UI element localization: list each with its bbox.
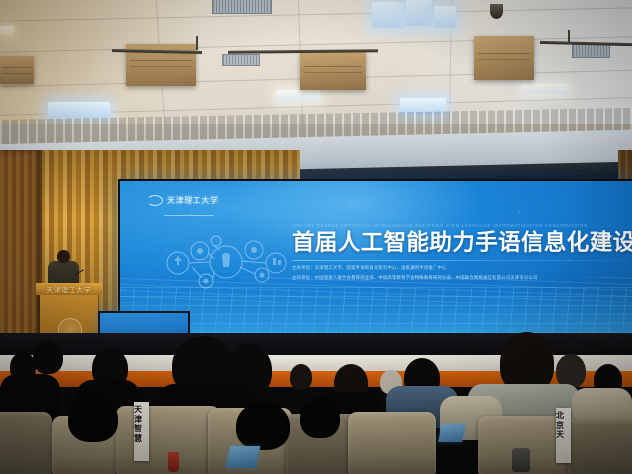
organizer-line-1: 主办单位：天津理工大学、国家手语和盲文研究中心、国家通用手语推广中心: [292, 264, 632, 271]
tablet-screen: [438, 424, 466, 442]
ceiling-speaker: [474, 36, 534, 80]
ceiling-light: [48, 102, 110, 118]
water-bottle: [168, 452, 179, 472]
seat-name-card: 天津智慧: [134, 402, 149, 461]
audience-head: [290, 364, 312, 390]
audience-head: [556, 354, 586, 388]
screen-title-block: THE 1ST DEGREE ARTIFICIAL INTELLIGENCE A…: [292, 223, 632, 281]
ceiling-light: [434, 6, 456, 28]
ceiling-light: [276, 90, 320, 102]
seat-card-text: 北京天: [556, 411, 571, 440]
logo-mark-icon: [147, 195, 163, 206]
auditorium-photo: 天津理工大学: [0, 0, 632, 474]
ceiling-hanger: [568, 30, 570, 44]
ai-network-nodes-icon: [156, 233, 296, 295]
ceiling-speaker: [0, 56, 34, 84]
organizer-line-2: 主持单位：中国残疾人联合会教育就业部、中国高等教育学会特殊教育研究分会、中国联合…: [292, 274, 632, 281]
seat: [348, 412, 436, 474]
presenter-head: [57, 250, 70, 263]
audience-head: [236, 402, 290, 450]
seat: [0, 412, 52, 474]
cup: [512, 448, 530, 472]
ceiling-light: [0, 26, 14, 35]
logo-underline: [164, 215, 214, 216]
led-display-screen: 天津理工大学: [120, 181, 632, 333]
title-chinese: 首届人工智能助力手语信息化建设研讨: [292, 230, 632, 255]
ceiling-vent: [212, 0, 272, 14]
podium-label: 天津理工大学: [36, 284, 102, 294]
seat-name-card: 北京天: [556, 408, 571, 463]
ceiling-light: [372, 2, 404, 28]
ceiling-vent: [572, 44, 610, 58]
logo-text: 天津理工大学: [167, 195, 219, 206]
title-english: THE 1ST DEGREE ARTIFICIAL INTELLIGENCE A…: [292, 223, 632, 229]
university-logo: 天津理工大学: [147, 195, 219, 206]
audience-area: 天津智慧 北京天: [0, 330, 632, 474]
ceiling-hanger: [196, 36, 198, 50]
title-divider: [292, 260, 628, 261]
seat-card-text: 天津智慧: [134, 405, 149, 443]
audience-head: [300, 398, 340, 438]
laptop-screen: [226, 446, 261, 468]
ceiling-light: [522, 84, 568, 94]
ceiling-light: [406, 0, 432, 26]
left-wood-wall: [0, 150, 42, 350]
ceiling-vent: [222, 54, 260, 66]
audience-head: [33, 340, 63, 374]
dome-camera: [490, 4, 503, 19]
audience-head: [68, 396, 118, 442]
podium-top: 天津理工大学: [36, 283, 102, 295]
ceiling-speaker: [300, 52, 366, 90]
seat: [568, 420, 632, 474]
